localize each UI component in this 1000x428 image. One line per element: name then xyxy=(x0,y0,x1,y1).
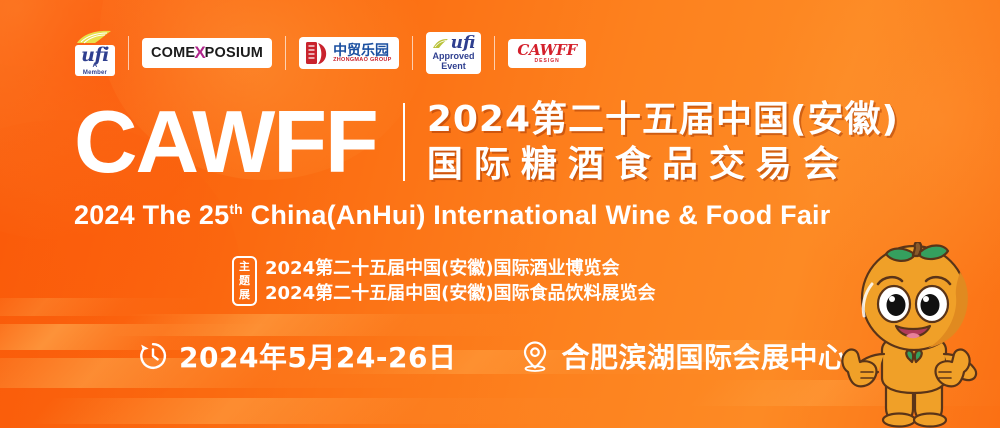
event-venue: 合肥滨湖国际会展中心 xyxy=(520,336,846,376)
location-pin-icon xyxy=(520,340,550,372)
event-venue-text: 合肥滨湖国际会展中心 xyxy=(561,336,846,376)
cawff-design-logo[interactable]: CAWFF DESIGN xyxy=(495,28,598,78)
english-title-post: China(AnHui) International Wine & Food F… xyxy=(243,200,831,230)
zhongmao-cn-name: 中贸乐园 xyxy=(333,43,392,57)
cawff-acronym: CAWFF xyxy=(74,98,377,186)
english-title: 2024 The 25th China(AnHui) International… xyxy=(74,200,830,231)
ufi-wing-icon xyxy=(432,38,449,50)
chinese-title-line2: 国际糖酒食品交易会 xyxy=(427,147,899,183)
theme-badge-char-3: 展 xyxy=(239,288,250,302)
zhongmao-en-name: ZHONGMAO GROUP xyxy=(333,58,392,64)
clock-icon xyxy=(138,341,168,371)
chinese-title-line1: 2024第二十五届中国(安徽) xyxy=(427,102,899,138)
ufi-approved-line3: Event xyxy=(441,62,466,71)
ufi-sub: A xyxy=(93,63,98,70)
ufi-approved-wordmark: ufi xyxy=(451,35,476,53)
theme-exhibitions-block: 主 题 展 2024第二十五届中国(安徽)国际酒业博览会 2024第二十五届中国… xyxy=(232,256,656,306)
cawff-logo-sub: DESIGN xyxy=(535,59,560,64)
english-title-ordinal: th xyxy=(229,201,243,217)
theme-line-food-expo: 2024第二十五届中国(安徽)国际食品饮料展览会 xyxy=(265,283,656,305)
comexposium-logo[interactable]: COME X POSIUM xyxy=(129,28,285,78)
headline-divider xyxy=(403,103,405,181)
ufi-member-label: Member xyxy=(83,70,107,76)
ufi-approved-event-logo[interactable]: ufi Approved Event xyxy=(413,28,495,78)
ufi-wing-icon xyxy=(75,30,115,45)
comexposium-part2: POSIUM xyxy=(205,45,263,61)
event-date: 2024年5月24-26日 xyxy=(138,336,456,376)
english-title-pre: 2024 The 25 xyxy=(74,200,229,230)
theme-badge: 主 题 展 xyxy=(232,256,257,306)
event-info-row: 2024年5月24-26日 合肥滨湖国际会展中心 xyxy=(138,336,846,376)
orange-fruit-mascot xyxy=(820,242,992,428)
comexposium-part1: COME xyxy=(151,45,195,61)
exhibition-banner: ufi A Member COME X POSIUM xyxy=(0,0,1000,428)
partner-logo-strip: ufi A Member COME X POSIUM xyxy=(62,28,599,78)
headline-block: CAWFF 2024第二十五届中国(安徽) 国际糖酒食品交易会 xyxy=(74,98,899,186)
theme-badge-char-2: 题 xyxy=(239,274,250,288)
ufi-member-logo[interactable]: ufi A Member xyxy=(62,28,128,78)
zhongmao-group-logo[interactable]: 中贸乐园 ZHONGMAO GROUP xyxy=(286,28,412,78)
zhongmao-emblem-icon xyxy=(306,41,328,65)
cawff-logo-wordmark: CAWFF xyxy=(517,43,576,58)
theme-badge-char-1: 主 xyxy=(239,260,250,274)
event-date-text: 2024年5月24-26日 xyxy=(179,336,456,376)
theme-line-wine-expo: 2024第二十五届中国(安徽)国际酒业博览会 xyxy=(265,258,656,280)
